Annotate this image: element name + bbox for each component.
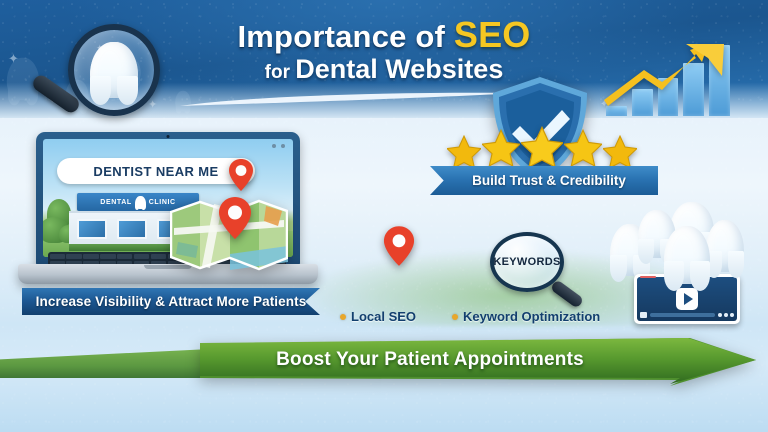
keywords-text: KEYWORDS: [493, 256, 560, 268]
map-location-pin-icon: [218, 196, 252, 240]
map-location-pin-icon: [228, 158, 254, 192]
video-controls[interactable]: [640, 311, 734, 319]
tooth-icon: [90, 42, 138, 98]
title-prefix: Importance of: [237, 19, 453, 54]
five-star-rating-icon: [440, 126, 644, 160]
magnifying-glass-tooth-icon: [28, 22, 160, 126]
browser-dot: [272, 144, 276, 148]
search-input[interactable]: DENTIST NEAR ME: [57, 158, 255, 184]
banner-increase-visibility: Increase Visibility & Attract More Patie…: [22, 288, 320, 315]
banner-boost-appointments-label: Boost Your Patient Appointments: [276, 349, 584, 370]
star-icon: [482, 129, 520, 171]
browser-dot: [281, 144, 285, 148]
key: [83, 254, 98, 260]
keywords-magnifying-glass-icon: KEYWORDS: [486, 232, 586, 298]
clinic-window: [77, 219, 107, 239]
dot: [724, 313, 728, 317]
clinic-sign-left: DENTAL: [100, 199, 131, 206]
trend-arrow-icon: [604, 40, 732, 114]
key: [100, 254, 115, 260]
teeth-group-icon: [608, 200, 754, 282]
tooth-icon: [664, 226, 710, 284]
key: [50, 254, 65, 260]
label-local-seo: Local SEO: [340, 309, 416, 324]
banner-increase-visibility-label: Increase Visibility & Attract More Patie…: [36, 294, 307, 309]
dot: [730, 313, 734, 317]
search-query-text: DENTIST NEAR ME: [93, 164, 218, 179]
magnifier-lens: KEYWORDS: [490, 232, 564, 292]
seek-bar[interactable]: [650, 313, 715, 317]
label-keyword-optimization-text: Keyword Optimization: [463, 309, 600, 324]
title-for: for: [265, 62, 296, 83]
bullet-icon: [340, 314, 346, 320]
bullet-icon: [452, 314, 458, 320]
webcam-icon: [167, 135, 170, 138]
label-local-seo-text: Local SEO: [351, 309, 416, 324]
stop-icon[interactable]: [640, 312, 647, 318]
banner-build-trust-label: Build Trust & Credibility: [462, 173, 626, 188]
tooth-icon: [135, 196, 146, 209]
label-keyword-optimization: Keyword Optimization: [452, 309, 600, 324]
tooth-icon: [706, 220, 744, 272]
banner-build-trust: Build Trust & Credibility: [430, 166, 658, 195]
title-accent-seo: SEO: [454, 14, 531, 55]
play-button[interactable]: [676, 288, 698, 310]
decorative-tooth-icon: [175, 91, 191, 111]
key: [66, 254, 81, 260]
more-options-icon[interactable]: [718, 313, 734, 317]
key: [117, 254, 132, 260]
title-dental-websites: Dental Websites: [295, 54, 503, 84]
map-location-pin-icon: [383, 225, 415, 267]
progress-bar[interactable]: [640, 276, 656, 278]
clinic-window: [117, 219, 147, 239]
infographic-canvas: ✦ ✦ ✦ ✦ ✦ Importance of SEO for Dental W…: [0, 0, 768, 432]
key: [151, 254, 166, 260]
browser-dots: [272, 144, 285, 148]
star-icon: [521, 126, 563, 172]
star-icon: [564, 129, 602, 171]
key: [134, 254, 149, 260]
dot: [718, 313, 722, 317]
banner-boost-appointments: Boost Your Patient Appointments: [210, 349, 650, 371]
growth-bar-chart-arrow-icon: [606, 42, 730, 116]
